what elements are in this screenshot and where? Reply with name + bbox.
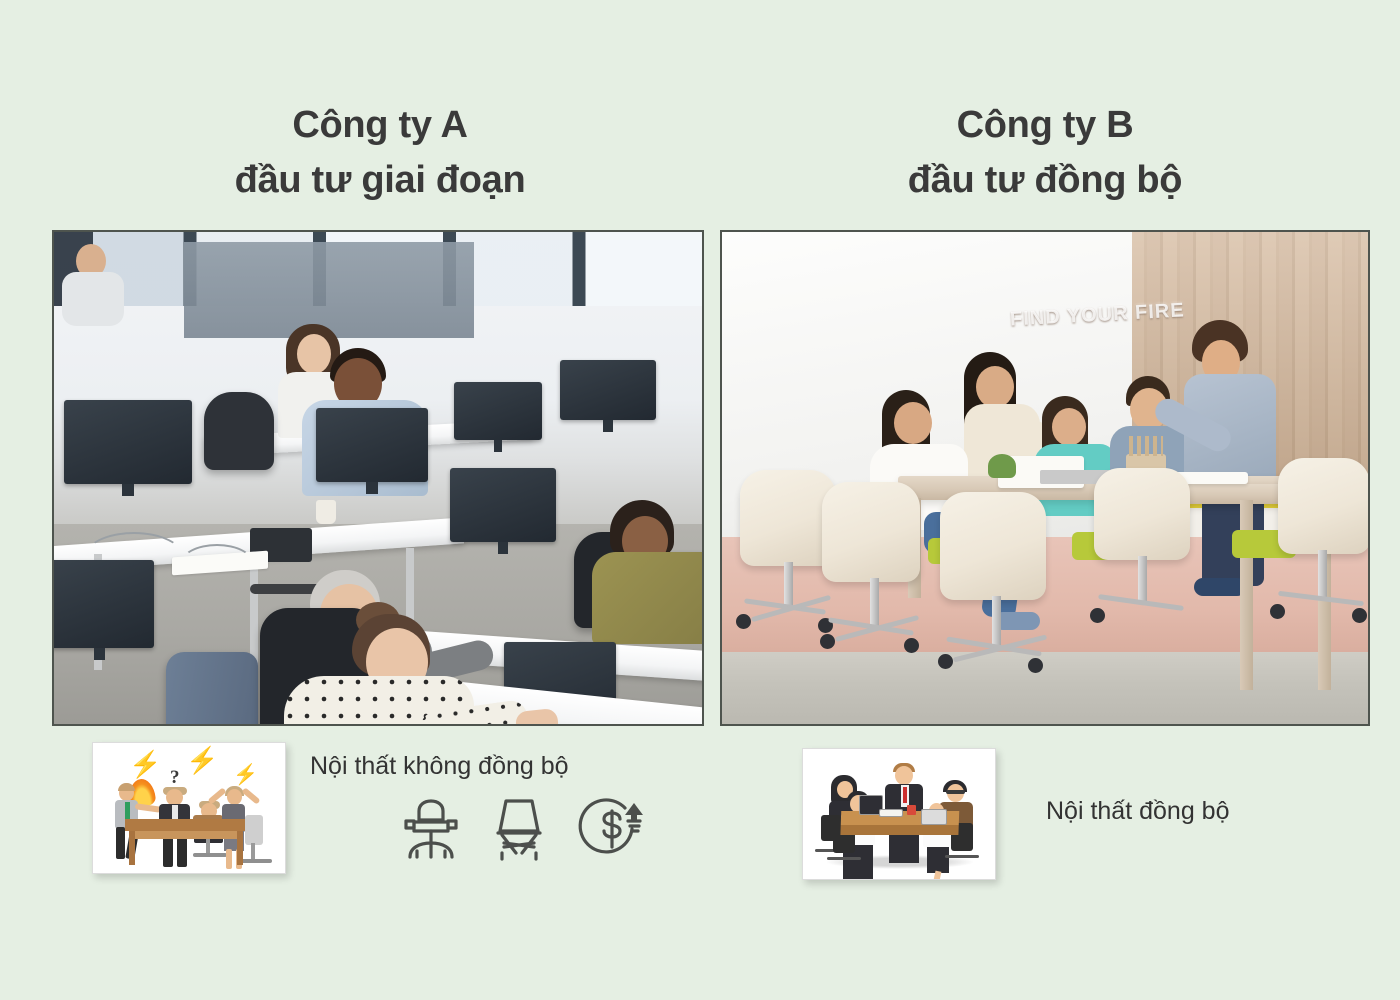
chair-caster xyxy=(938,654,953,669)
chair-post xyxy=(870,578,879,626)
furniture-cost-icon-row xyxy=(400,795,650,861)
office-monitor xyxy=(450,468,556,542)
person-body xyxy=(62,272,124,326)
heading-company-a-line2: đầu tư giai đoạn xyxy=(55,153,705,208)
figure-tie xyxy=(903,787,907,803)
poster-canvas: Công ty A đầu tư giai đoạn Công ty B đầu… xyxy=(0,0,1400,1000)
meeting-chair-right xyxy=(1278,458,1370,554)
thumb-coffee-cup xyxy=(907,805,916,815)
heading-company-a-line1: Công ty A xyxy=(55,98,705,153)
office-monitor xyxy=(316,408,428,482)
figure-arm xyxy=(135,803,162,813)
collaborative-meeting-illustration xyxy=(803,749,995,879)
question-mark-icon: ? xyxy=(170,767,180,789)
photo-company-a-office xyxy=(52,230,704,726)
caption-company-a: Nội thất không đồng bộ xyxy=(310,752,569,781)
figure-hair xyxy=(118,783,135,791)
figure-arm-raised xyxy=(241,787,260,804)
figure-head xyxy=(227,789,242,805)
meeting-chair xyxy=(1094,468,1190,560)
chaotic-meeting-illustration: ⚡ ⚡ ⚡ ? xyxy=(93,743,285,873)
figure-leg xyxy=(116,827,125,859)
thumb-table-leg xyxy=(129,831,135,865)
chair-post xyxy=(992,596,1001,646)
photo-company-a-scene xyxy=(54,232,702,724)
office-wall-panel xyxy=(184,242,474,338)
photo-company-b-scene: FIND YOUR FIRE xyxy=(722,232,1368,724)
thumbnail-chaotic-meeting: ⚡ ⚡ ⚡ ? xyxy=(92,742,286,874)
chair-post xyxy=(1318,550,1327,598)
chair-caster xyxy=(1270,604,1285,619)
chair-caster xyxy=(904,638,919,653)
chair-caster xyxy=(1028,658,1043,673)
person-head xyxy=(1052,408,1086,446)
office-monitor xyxy=(560,360,656,420)
meeting-chair xyxy=(822,482,920,582)
thumb-table-leg xyxy=(237,831,243,865)
thumb-chair xyxy=(245,815,263,845)
chair-post xyxy=(1138,556,1147,602)
person-head xyxy=(894,402,932,444)
office-monitor xyxy=(454,382,542,440)
thumb-chair-base xyxy=(238,859,272,863)
table-leg xyxy=(1240,500,1253,690)
side-chair-icon xyxy=(488,795,550,861)
meeting-chair-front xyxy=(940,492,1046,600)
figure-leg xyxy=(226,849,232,869)
heading-company-b-line2: đầu tư đồng bộ xyxy=(720,153,1370,208)
office-chair-icon xyxy=(400,795,462,861)
office-chair xyxy=(204,392,274,470)
chair-caster xyxy=(820,634,835,649)
meeting-room-floor xyxy=(722,652,1370,726)
chair-post xyxy=(784,562,793,606)
blue-visitor-chair xyxy=(166,652,258,726)
heading-company-b: Công ty B đầu tư đồng bộ xyxy=(720,98,1370,208)
caption-company-b: Nội thất đồng bộ xyxy=(1046,797,1229,826)
person-head xyxy=(976,366,1014,408)
glasses-icon xyxy=(946,790,965,794)
chair-caster xyxy=(1090,608,1105,623)
desk-cup xyxy=(316,500,336,524)
heading-company-a: Công ty A đầu tư giai đoạn xyxy=(55,98,705,208)
office-monitor xyxy=(64,400,192,484)
thumb-laptop xyxy=(921,809,947,825)
photo-company-b-meeting-room: FIND YOUR FIRE xyxy=(720,230,1370,726)
thumbnail-collaborative-meeting xyxy=(802,748,996,880)
figure-leg xyxy=(177,835,187,867)
thumb-chair-base xyxy=(827,857,861,860)
figure-skirt xyxy=(927,847,949,873)
table-plant xyxy=(988,454,1016,478)
thumb-chair-base xyxy=(945,855,979,858)
person-body xyxy=(592,552,704,644)
figure-leg xyxy=(163,835,173,867)
chair-caster xyxy=(1352,608,1367,623)
thumb-chair-base xyxy=(193,853,227,857)
desk-cable xyxy=(180,544,254,584)
person-head xyxy=(297,334,331,374)
heading-company-b-line1: Công ty B xyxy=(720,98,1370,153)
person-shoe xyxy=(1194,578,1246,596)
rising-cost-dollar-icon xyxy=(576,795,650,861)
thumb-documents xyxy=(879,809,903,817)
figure-head xyxy=(895,766,913,785)
thumb-meeting-table xyxy=(125,819,245,831)
chair-caster xyxy=(736,614,751,629)
office-monitor xyxy=(52,560,154,648)
